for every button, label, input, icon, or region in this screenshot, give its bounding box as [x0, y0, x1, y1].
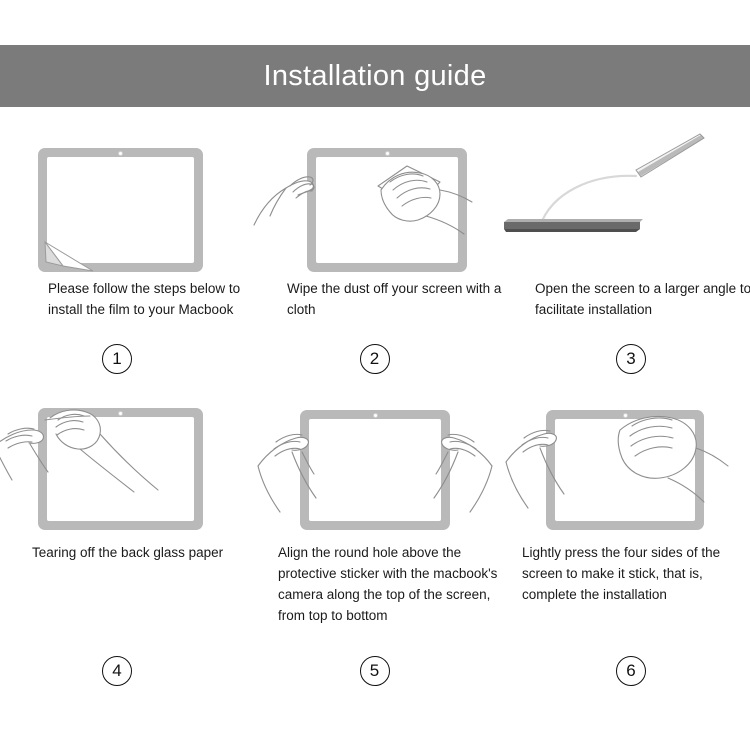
left-hand-icon — [506, 430, 564, 508]
step-4-illustration — [0, 396, 250, 536]
hands-overlay — [250, 130, 500, 270]
badge-cell-2: 2 — [250, 344, 500, 374]
step-cell-6: Lightly press the four sides of the scre… — [500, 396, 750, 650]
badge-cell-3: 3 — [500, 344, 750, 374]
step-6-caption: Lightly press the four sides of the scre… — [522, 542, 750, 650]
hands-overlay — [250, 396, 500, 536]
step-2-caption: Wipe the dust off your screen with a clo… — [287, 278, 525, 344]
step-badges-bottom: 4 5 6 — [0, 656, 750, 686]
step-number-badge-1: 1 — [102, 344, 132, 374]
step-4-caption: Tearing off the back glass paper — [32, 542, 270, 650]
left-hand-icon — [0, 428, 48, 480]
peeling-film-corner-icon — [43, 240, 89, 270]
step-badges-top: 1 2 3 — [0, 344, 750, 374]
macbook-screen-icon — [38, 148, 203, 272]
step-number-badge-3: 3 — [616, 344, 646, 374]
step-number-badge-5: 5 — [360, 656, 390, 686]
steps-grid: Please follow the steps below to install… — [0, 130, 750, 686]
step-row-bottom: Tearing off the back glass paper — [0, 396, 750, 650]
step-cell-5: Align the round hole above the protectiv… — [250, 396, 500, 650]
step-6-illustration — [500, 396, 750, 536]
step-cell-1: Please follow the steps below to install… — [0, 130, 250, 344]
step-3-caption: Open the screen to a larger angle to fac… — [535, 278, 750, 344]
rotation-arc-icon — [540, 176, 636, 226]
step-cell-4: Tearing off the back glass paper — [0, 396, 250, 650]
right-hand-with-cloth-icon — [378, 166, 472, 234]
step-number-badge-4: 4 — [102, 656, 132, 686]
hands-overlay — [500, 396, 750, 536]
step-cell-2: Wipe the dust off your screen with a clo… — [250, 130, 500, 344]
peeling-hand-icon — [45, 410, 158, 492]
page-title: Installation guide — [263, 62, 486, 91]
step-number-badge-6: 6 — [616, 656, 646, 686]
step-1-illustration — [0, 130, 250, 270]
laptop-base — [504, 222, 640, 229]
badge-cell-5: 5 — [250, 656, 500, 686]
header-banner: Installation guide — [0, 45, 750, 107]
step-5-caption: Align the round hole above the protectiv… — [278, 542, 516, 650]
pressing-hand-icon — [618, 417, 728, 503]
hands-overlay — [0, 396, 250, 536]
step-number-badge-2: 2 — [360, 344, 390, 374]
badge-cell-1: 1 — [0, 344, 250, 374]
left-hand-icon — [254, 177, 314, 225]
badge-cell-6: 6 — [500, 656, 750, 686]
step-row-top: Please follow the steps below to install… — [0, 130, 750, 344]
step-3-illustration — [500, 130, 750, 270]
step-5-illustration — [250, 396, 500, 536]
laptop-side-view-icon — [500, 130, 750, 270]
step-cell-3: Open the screen to a larger angle to fac… — [500, 130, 750, 344]
step-2-illustration — [250, 130, 500, 270]
right-hand-icon — [434, 434, 492, 512]
left-hand-icon — [258, 434, 316, 512]
camera-dot-icon — [118, 151, 123, 156]
installation-guide-page: Installation guide — [0, 0, 750, 750]
badge-cell-4: 4 — [0, 656, 250, 686]
